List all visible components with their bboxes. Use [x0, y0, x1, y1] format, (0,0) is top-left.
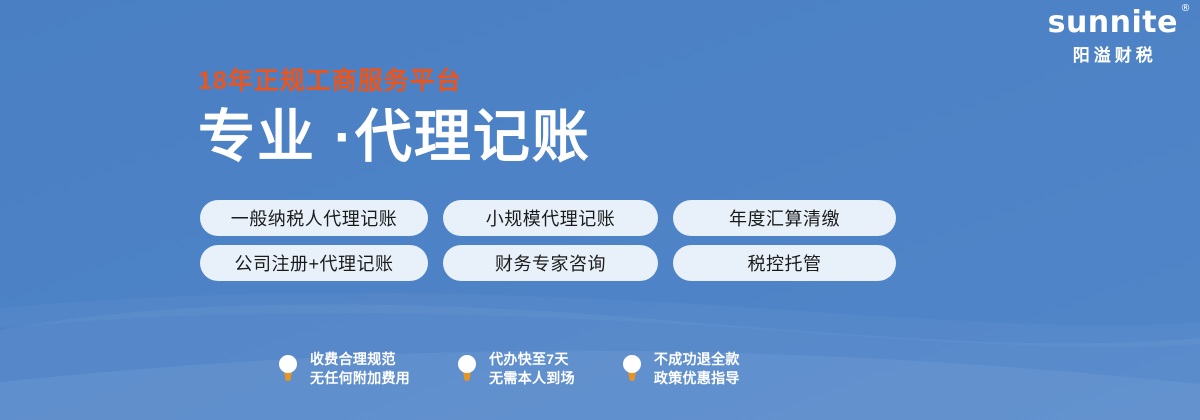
brand-subtitle: 阳溢财税	[1048, 47, 1178, 64]
balloon-icon	[275, 352, 301, 386]
service-pill-small-scale[interactable]: 小规模代理记账	[443, 200, 658, 236]
balloon-icon	[454, 352, 480, 386]
feature-line-1: 代办快至7天	[489, 350, 575, 369]
service-pill-expert-consulting[interactable]: 财务专家咨询	[443, 245, 658, 281]
brand-logo: sunnite ® 阳溢财税	[1048, 8, 1178, 64]
service-pill-grid: 一般纳税人代理记账 小规模代理记账 年度汇算清缴 公司注册+代理记账 财务专家咨…	[200, 200, 896, 281]
feature-line-2: 无需本人到场	[489, 369, 575, 388]
service-pill-general-taxpayer[interactable]: 一般纳税人代理记账	[200, 200, 428, 236]
brand-wordmark: sunnite ®	[1048, 8, 1178, 38]
hero-text-block: 18年正规工商服务平台 专业 ·代理记账	[198, 68, 591, 169]
service-pill-annual-settlement[interactable]: 年度汇算清缴	[673, 200, 896, 236]
wave-sheen	[0, 293, 1200, 347]
hero-headline: 专业 ·代理记账	[198, 106, 591, 170]
hero-eyebrow: 18年正规工商服务平台	[198, 68, 591, 96]
service-pill-row: 一般纳税人代理记账 小规模代理记账 年度汇算清缴	[200, 200, 896, 236]
service-pill-tax-control-hosting[interactable]: 税控托管	[673, 245, 896, 281]
feature-list: 收费合理规范 无任何附加费用 代办快至7天 无需本人到场 不成功退全款	[275, 350, 740, 388]
feature-line-1: 不成功退全款	[654, 350, 740, 369]
feature-line-2: 政策优惠指导	[654, 369, 740, 388]
feature-text-guarantee: 不成功退全款 政策优惠指导	[654, 350, 740, 388]
feature-item-speed: 代办快至7天 无需本人到场	[454, 350, 575, 388]
feature-item-pricing: 收费合理规范 无任何附加费用	[275, 350, 410, 388]
feature-text-pricing: 收费合理规范 无任何附加费用	[310, 350, 410, 388]
feature-item-guarantee: 不成功退全款 政策优惠指导	[619, 350, 740, 388]
brand-wordmark-text: sunnite	[1048, 5, 1178, 40]
feature-line-2: 无任何附加费用	[310, 369, 410, 388]
registered-trademark-icon: ®	[1181, 4, 1192, 14]
feature-text-speed: 代办快至7天 无需本人到场	[489, 350, 575, 388]
feature-line-1: 收费合理规范	[310, 350, 410, 369]
promo-banner: sunnite ® 阳溢财税 18年正规工商服务平台 专业 ·代理记账 一般纳税…	[0, 0, 1200, 420]
balloon-icon	[619, 352, 645, 386]
service-pill-company-registration[interactable]: 公司注册+代理记账	[200, 245, 428, 281]
service-pill-row: 公司注册+代理记账 财务专家咨询 税控托管	[200, 245, 896, 281]
